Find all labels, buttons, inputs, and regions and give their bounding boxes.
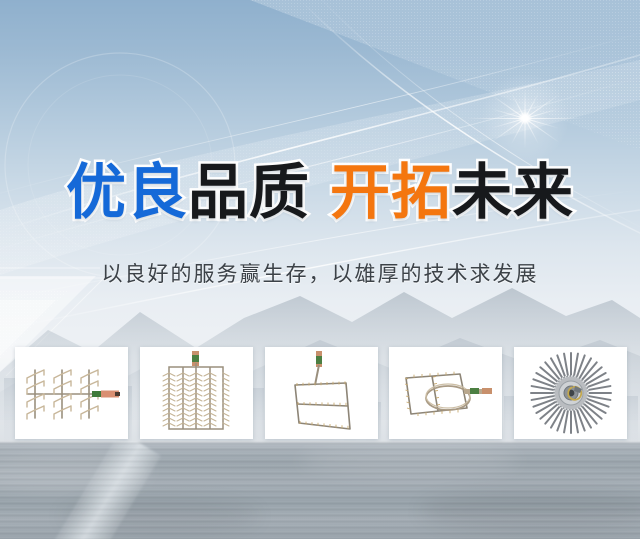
hanger-ring-icon	[394, 358, 498, 428]
hanger-star-icon	[528, 350, 614, 436]
headline-part-1: 优良	[66, 158, 188, 228]
product-card-square-frame-ring-rack[interactable]	[389, 347, 502, 439]
headline-part-4: 未来	[452, 158, 574, 228]
product-card-list	[15, 347, 627, 439]
product-card-rectangular-frame-rack[interactable]	[265, 347, 378, 439]
product-card-radial-sunburst-fixture[interactable]	[514, 347, 627, 439]
promo-banner: 优良品质开拓未来 以良好的服务赢生存，以雄厚的技术求发展	[0, 0, 640, 539]
subtitle: 以良好的服务赢生存，以雄厚的技术求发展	[0, 258, 640, 288]
product-card-branched-hook-hanger-rack[interactable]	[15, 347, 128, 439]
headline: 优良品质开拓未来	[0, 163, 640, 223]
hanger-branched-icon	[19, 354, 124, 432]
headline-part-2: 品质	[188, 158, 310, 228]
ground-texture	[0, 441, 640, 539]
headline-part-3: 开拓	[330, 158, 452, 228]
hanger-frame-icon	[283, 351, 359, 435]
product-card-dense-comb-plating-rack[interactable]	[140, 347, 253, 439]
ground-plane	[0, 441, 640, 539]
hanger-comb-icon	[157, 351, 235, 435]
